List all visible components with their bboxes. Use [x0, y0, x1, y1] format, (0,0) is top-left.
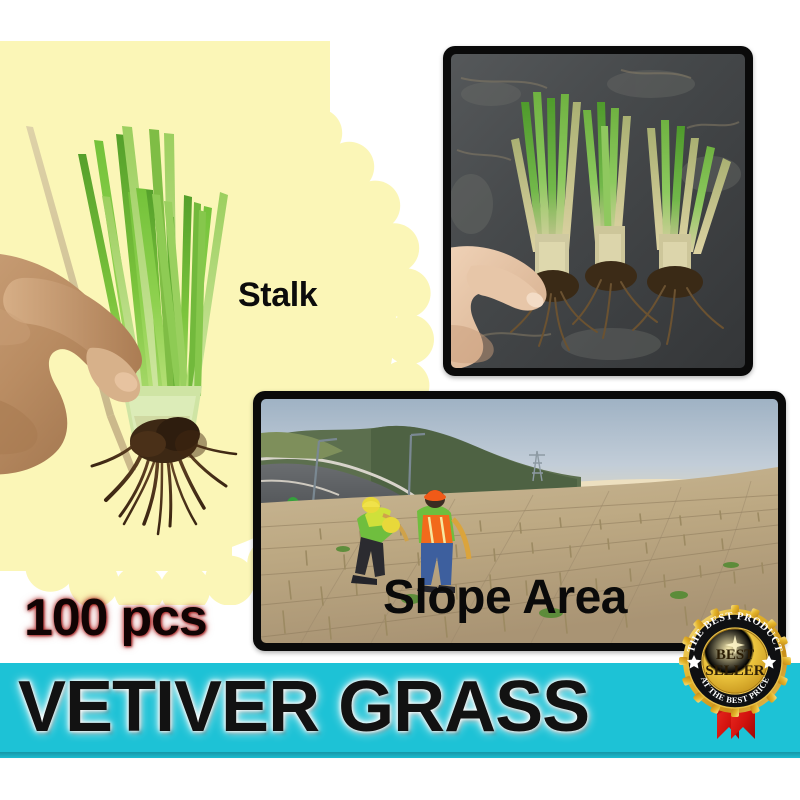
quantity-label: 100 pcs	[24, 592, 206, 644]
product-title: VETIVER GRASS	[18, 671, 589, 743]
product-image-canvas: Stalk	[0, 0, 800, 800]
photo-vetiver-slips	[443, 46, 753, 376]
badge-center-line1: BEST	[716, 647, 754, 663]
slope-area-label: Slope Area	[383, 574, 627, 622]
badge-center-line2: SELLER	[705, 663, 764, 679]
stalk-label: Stalk	[238, 278, 317, 312]
banner-shadow	[0, 752, 800, 759]
best-seller-badge: THE BEST PRODUCT AT THE BEST PRICE BEST …	[679, 605, 791, 745]
